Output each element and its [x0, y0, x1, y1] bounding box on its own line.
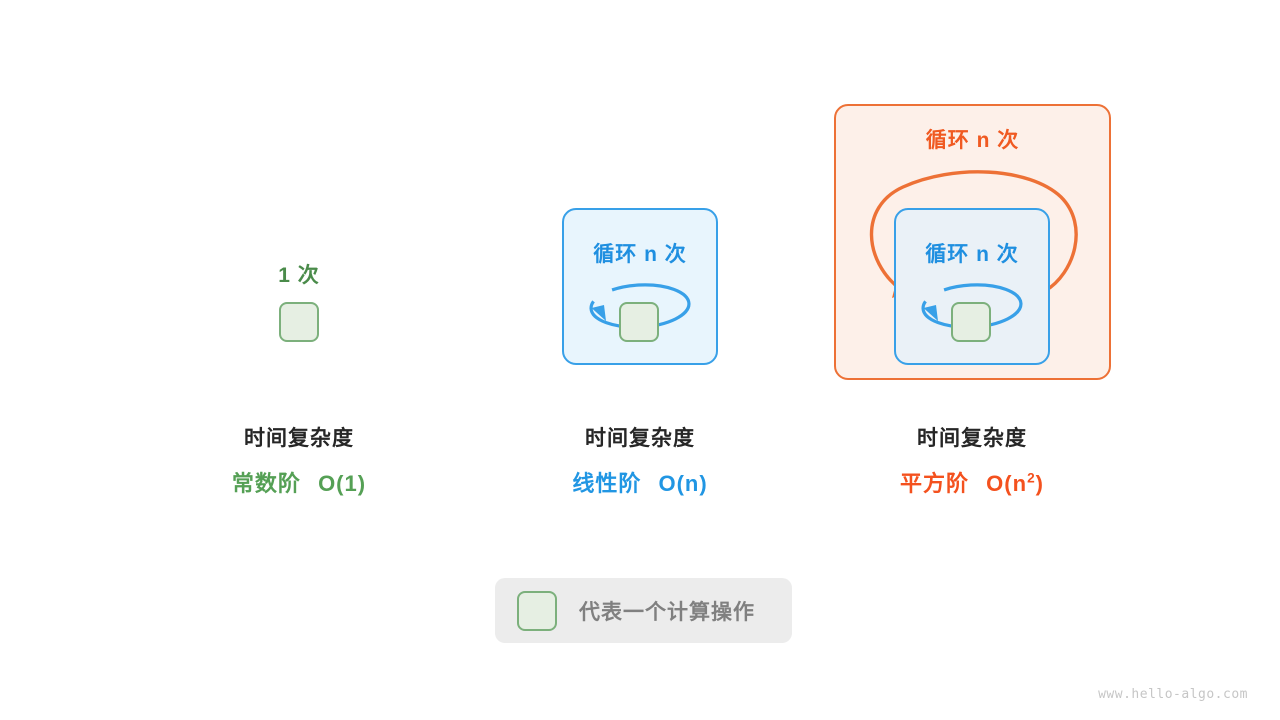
- label-constant-order-name: 常数阶: [232, 471, 301, 496]
- label-constant-order-notation: O(1): [318, 471, 366, 496]
- label-quadratic-order-name: 平方阶: [900, 471, 969, 496]
- legend-operation-swatch: [517, 591, 557, 631]
- panel-quadratic-inner-caption: 循环 n 次: [894, 238, 1050, 268]
- label-linear: 时间复杂度 线性阶 O(n): [490, 428, 790, 495]
- panel-constant-caption: 1 次: [199, 259, 399, 289]
- label-quadratic-order-exponent: 2: [1027, 471, 1036, 486]
- inner-loop-arrow-quadratic: [916, 278, 1028, 348]
- inner-loop-box-quadratic: [894, 208, 1050, 365]
- operation-box-quadratic: [951, 302, 991, 342]
- label-quadratic-order: 平方阶 O(n2): [822, 473, 1122, 495]
- loop-box-linear: [562, 208, 718, 365]
- label-constant-title: 时间复杂度: [149, 428, 449, 449]
- label-constant: 时间复杂度 常数阶 O(1): [149, 428, 449, 495]
- label-linear-order: 线性阶 O(n): [490, 473, 790, 495]
- legend: 代表一个计算操作: [495, 578, 792, 643]
- label-linear-title: 时间复杂度: [490, 428, 790, 449]
- label-quadratic-title: 时间复杂度: [822, 428, 1122, 449]
- label-linear-order-name: 线性阶: [572, 471, 641, 496]
- label-quadratic-order-notation-base: O(n: [986, 471, 1027, 496]
- diagram-canvas: 1 次 循环 n 次 循环 n 次 循环 n 次 时间复杂度: [0, 0, 1280, 720]
- outer-loop-arrow-quadratic: [861, 165, 1083, 300]
- label-quadratic: 时间复杂度 平方阶 O(n2): [822, 428, 1122, 495]
- watermark: www.hello-algo.com: [1098, 687, 1248, 702]
- label-linear-order-notation: O(n): [658, 471, 707, 496]
- legend-label: 代表一个计算操作: [579, 596, 755, 626]
- operation-box-linear: [619, 302, 659, 342]
- label-constant-order: 常数阶 O(1): [149, 473, 449, 495]
- panel-linear-caption: 循环 n 次: [562, 238, 718, 268]
- label-quadratic-order-notation-tail: ): [1036, 471, 1044, 496]
- operation-box-constant: [279, 302, 319, 342]
- loop-arrow-linear: [584, 278, 696, 348]
- outer-loop-box-quadratic: [834, 104, 1111, 380]
- panel-quadratic-outer-caption: 循环 n 次: [834, 124, 1111, 154]
